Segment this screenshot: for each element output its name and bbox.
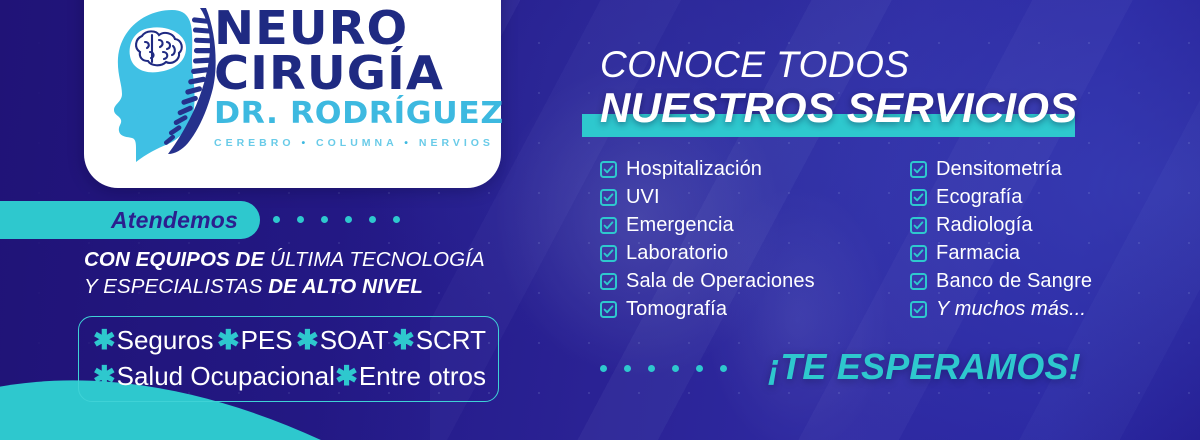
atendemos-badge: Atendemos xyxy=(0,201,260,239)
service-label: Y muchos más... xyxy=(936,299,1086,319)
checkbox-checked-icon xyxy=(600,161,617,178)
dot xyxy=(696,365,703,372)
asterisk-icon: ✱ xyxy=(217,323,240,359)
checkbox-checked-icon xyxy=(600,189,617,206)
dot xyxy=(273,216,280,223)
insurance-item: ✱ SCRT xyxy=(392,323,486,359)
insurance-label: Salud Ocupacional xyxy=(117,359,335,393)
logo-tagline-sep-2: • xyxy=(404,137,412,149)
service-label: Farmacia xyxy=(936,243,1020,263)
service-item: Radiología xyxy=(910,211,1092,239)
insurance-item: ✱ SOAT xyxy=(296,323,388,359)
logo-tagline-item-3: NERVIOS xyxy=(419,137,494,149)
atendemos-label: Atendemos xyxy=(111,207,238,234)
insurance-item: ✱ PES xyxy=(217,323,293,359)
checkbox-checked-icon xyxy=(910,245,927,262)
service-label: Tomografía xyxy=(626,299,727,319)
service-label: Hospitalización xyxy=(626,159,762,179)
checkbox-checked-icon xyxy=(910,301,927,318)
checkbox-checked-icon xyxy=(910,161,927,178)
services-column-2: Densitometría Ecografía Radiología Farma… xyxy=(910,155,1092,323)
logo-tagline: CEREBRO • COLUMNA • NERVIOS xyxy=(214,137,496,149)
dot xyxy=(624,365,631,372)
logo-wordmark: NEURO CIRUGÍA DR. RODRÍGUEZ CEREBRO • CO… xyxy=(214,6,496,149)
asterisk-icon: ✱ xyxy=(296,323,319,359)
logo-card: NEURO CIRUGÍA DR. RODRÍGUEZ CEREBRO • CO… xyxy=(84,0,501,188)
checkbox-checked-icon xyxy=(600,245,617,262)
subheadline: CON EQUIPOS DE ÚLTIMA TECNOLOGÍA Y ESPEC… xyxy=(84,247,514,300)
dot xyxy=(297,216,304,223)
service-label: UVI xyxy=(626,187,660,207)
logo-tagline-sep-1: • xyxy=(301,137,309,149)
insurance-box: ✱ Seguros ✱ PES ✱ SOAT ✱ SCRT ✱ Salud Oc… xyxy=(78,316,499,402)
dot xyxy=(672,365,679,372)
service-item: Ecografía xyxy=(910,183,1092,211)
logo-tagline-item-2: COLUMNA xyxy=(316,137,397,149)
headline-bottom: NUESTROS SERVICIOS xyxy=(600,87,1160,129)
service-label: Sala de Operaciones xyxy=(626,271,815,291)
service-label: Banco de Sangre xyxy=(936,271,1092,291)
checkbox-checked-icon xyxy=(600,217,617,234)
subheadline-light-1: ÚLTIMA TECNOLOGÍA xyxy=(270,248,485,271)
insurance-label: PES xyxy=(241,323,293,357)
dot xyxy=(345,216,352,223)
service-item: Sala de Operaciones xyxy=(600,267,815,295)
service-item: Laboratorio xyxy=(600,239,815,267)
insurance-label: SOAT xyxy=(320,323,389,357)
service-label: Densitometría xyxy=(936,159,1062,179)
asterisk-icon: ✱ xyxy=(335,359,358,395)
checkbox-checked-icon xyxy=(910,189,927,206)
service-item: Banco de Sangre xyxy=(910,267,1092,295)
service-item: Emergencia xyxy=(600,211,815,239)
service-item: Tomografía xyxy=(600,295,815,323)
service-label: Radiología xyxy=(936,215,1033,235)
insurance-row-2: ✱ Salud Ocupacional ✱ Entre otros xyxy=(93,359,486,395)
checkbox-checked-icon xyxy=(600,273,617,290)
service-item: Densitometría xyxy=(910,155,1092,183)
service-item: UVI xyxy=(600,183,815,211)
insurance-label: Seguros xyxy=(117,323,214,357)
checkbox-checked-icon xyxy=(910,217,927,234)
asterisk-icon: ✱ xyxy=(93,359,116,395)
head-brain-spine-icon xyxy=(106,4,222,164)
cta-text: ¡TE ESPERAMOS! xyxy=(768,346,1081,388)
service-item: Farmacia xyxy=(910,239,1092,267)
insurance-label: Entre otros xyxy=(359,359,486,393)
dot xyxy=(369,216,376,223)
logo-line-doctor: DR. RODRÍGUEZ xyxy=(214,97,510,132)
service-label: Laboratorio xyxy=(626,243,728,263)
services-column-1: Hospitalización UVI Emergencia Laborator… xyxy=(600,155,815,323)
subheadline-line-1: CON EQUIPOS DE ÚLTIMA TECNOLOGÍA xyxy=(84,247,514,274)
asterisk-icon: ✱ xyxy=(392,323,415,359)
service-item: Y muchos más... xyxy=(910,295,1092,323)
headline-top: CONOCE TODOS xyxy=(600,46,1160,83)
logo-tagline-item-1: CEREBRO xyxy=(214,137,295,149)
subheadline-bold-1: CON EQUIPOS DE xyxy=(84,248,264,271)
checkbox-checked-icon xyxy=(600,301,617,318)
subheadline-line-2: Y ESPECIALISTAS DE ALTO NIVEL xyxy=(84,274,514,301)
insurance-label: SCRT xyxy=(416,323,486,357)
logo-line-cirugia: CIRUGÍA xyxy=(214,50,507,96)
dot xyxy=(648,365,655,372)
insurance-item: ✱ Seguros xyxy=(93,323,213,359)
service-label: Ecografía xyxy=(936,187,1023,207)
insurance-row-1: ✱ Seguros ✱ PES ✱ SOAT ✱ SCRT xyxy=(93,323,486,359)
cta-dots-decoration xyxy=(600,365,727,372)
dot xyxy=(600,365,607,372)
service-label: Emergencia xyxy=(626,215,734,235)
checkbox-checked-icon xyxy=(910,273,927,290)
insurance-item: ✱ Salud Ocupacional xyxy=(93,359,335,395)
dot xyxy=(720,365,727,372)
service-item: Hospitalización xyxy=(600,155,815,183)
services-headline: CONOCE TODOS NUESTROS SERVICIOS xyxy=(600,46,1160,139)
insurance-item: ✱ Entre otros xyxy=(335,359,486,395)
subheadline-light-2: Y ESPECIALISTAS xyxy=(84,275,262,298)
dot xyxy=(393,216,400,223)
logo-line-neuro: NEURO xyxy=(214,6,507,50)
clinic-services-banner: NEURO CIRUGÍA DR. RODRÍGUEZ CEREBRO • CO… xyxy=(0,0,1200,440)
pill-dots-decoration xyxy=(273,216,400,223)
subheadline-bold-2: DE ALTO NIVEL xyxy=(268,275,423,298)
dot xyxy=(321,216,328,223)
asterisk-icon: ✱ xyxy=(93,323,116,359)
